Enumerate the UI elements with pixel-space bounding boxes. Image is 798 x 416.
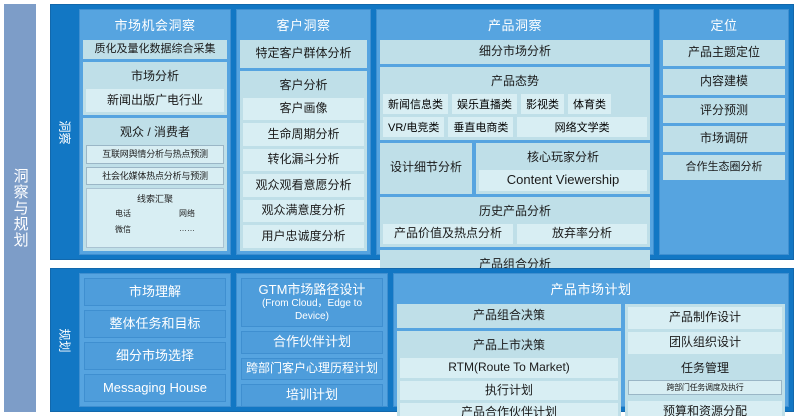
product-market-plan-right: 产品制作设计 团队组织设计 任务管理 跨部门任务调度及执行 预算和资源分配 (625, 304, 785, 416)
group-history-product-analysis-title: 历史产品分析 (383, 200, 647, 221)
section-positioning-title: 定位 (663, 13, 785, 37)
group-product-trend: 产品态势 新闻信息类 娱乐直播类 影视类 体育类 VR/电竞类 垂直电商类 网络… (380, 67, 650, 140)
tile-gtm-path-design[interactable]: GTM市场路径设计 (From Cloud，Edge to Device) (241, 278, 383, 327)
product-mid-row: 设计细节分析 核心玩家分析 Content Viewership (380, 143, 650, 194)
tile-segment-selection[interactable]: 细分市场选择 (84, 342, 226, 370)
chip-online-literature[interactable]: 网络文学类 (517, 117, 647, 137)
tile-customer-persona[interactable]: 客户画像 (243, 98, 364, 121)
tile-social-media-hotspot-analysis[interactable]: 社会化媒体热点分析与预测 (86, 167, 224, 185)
group-customer-analysis: 客户分析 客户画像 生命周期分析 转化漏斗分析 观众观看意愿分析 观众满意度分析… (240, 71, 367, 251)
chip-vr-esports[interactable]: VR/电竞类 (383, 117, 444, 137)
product-market-plan-left: 产品组合决策 产品上市决策 RTM(Route To Market) 执行计划 … (397, 304, 621, 416)
group-core-player-analysis: 核心玩家分析 Content Viewership (476, 143, 650, 194)
tile-user-loyalty-analysis[interactable]: 用户忠诚度分析 (243, 225, 364, 248)
tile-content-modeling[interactable]: 内容建模 (663, 69, 785, 95)
tile-cross-dept-task-scheduling[interactable]: 跨部门任务调度及执行 (628, 380, 782, 395)
product-trend-row-1: 新闻信息类 娱乐直播类 影视类 体育类 (383, 94, 647, 114)
section-customer-insight-title: 客户洞察 (240, 13, 367, 37)
section-product-insight[interactable]: 产品洞察 细分市场分析 产品态势 新闻信息类 娱乐直播类 影视类 体育类 VR/… (376, 9, 654, 255)
tile-product-theme-positioning[interactable]: 产品主题定位 (663, 40, 785, 66)
section-market-opportunity-title: 市场机会洞察 (83, 13, 227, 37)
tile-execution-plan[interactable]: 执行计划 (400, 381, 618, 401)
clue-channel-more: …… (155, 224, 219, 235)
tile-broadcast-industry[interactable]: 新闻出版广电行业 (86, 89, 224, 113)
tile-market-segmentation-analysis[interactable]: 细分市场分析 (380, 40, 650, 64)
band-insight-tab-label: 洞察 (56, 120, 73, 144)
tile-gtm-path-design-title: GTM市场路径设计 (259, 282, 366, 298)
tile-abandonment-rate[interactable]: 放弃率分析 (517, 224, 647, 244)
tile-team-org-design[interactable]: 团队组织设计 (628, 332, 782, 354)
chip-sports[interactable]: 体育类 (568, 94, 611, 114)
group-product-launch-decision: 产品上市决策 RTM(Route To Market) 执行计划 产品合作伙伴计… (397, 331, 621, 416)
group-customer-analysis-title: 客户分析 (243, 74, 364, 95)
section-customer-insight[interactable]: 客户洞察 特定客户群体分析 客户分析 客户画像 生命周期分析 转化漏斗分析 观众… (236, 9, 371, 255)
tile-product-value-hotspot[interactable]: 产品价值及热点分析 (383, 224, 513, 244)
section-market-opportunity[interactable]: 市场机会洞察 质化及量化数据综合采集 市场分析 新闻出版广电行业 观众 / 消费… (79, 9, 231, 255)
tile-content-viewership[interactable]: Content Viewership (479, 170, 647, 191)
tile-internet-opinion-analysis[interactable]: 互联网舆情分析与热点预测 (86, 145, 224, 163)
tile-market-research[interactable]: 市场调研 (663, 126, 785, 152)
section-plan-gtm[interactable]: GTM市场路径设计 (From Cloud，Edge to Device) 合作… (236, 273, 388, 407)
tile-gtm-path-design-sub: (From Cloud，Edge to Device) (246, 298, 378, 323)
group-history-product-analysis: 历史产品分析 产品价值及热点分析 放弃率分析 (380, 197, 650, 247)
group-product-launch-decision-title: 产品上市决策 (400, 334, 618, 355)
group-core-player-analysis-title: 核心玩家分析 (479, 146, 647, 167)
tile-production-design[interactable]: 产品制作设计 (628, 307, 782, 329)
product-market-plan-columns: 产品组合决策 产品上市决策 RTM(Route To Market) 执行计划 … (397, 304, 785, 416)
chip-news-information[interactable]: 新闻信息类 (383, 94, 448, 114)
tile-product-portfolio-decision[interactable]: 产品组合决策 (397, 304, 621, 328)
global-rail-label: 洞察与规划 (9, 168, 30, 248)
diagram-root: 洞察与规划 洞察 市场机会洞察 质化及量化数据综合采集 市场分析 新闻出版广电行… (0, 0, 798, 416)
group-clue-aggregation: 线索汇聚 电话 网络 微信 …… (86, 188, 224, 248)
global-rail: 洞察与规划 (4, 4, 36, 412)
positioning-spacer (663, 183, 785, 251)
tile-viewer-satisfaction-analysis[interactable]: 观众满意度分析 (243, 200, 364, 223)
chip-film-tv[interactable]: 影视类 (521, 94, 564, 114)
band-planning-tab: 规划 (51, 269, 79, 411)
tile-specific-customer-group[interactable]: 特定客户群体分析 (240, 40, 367, 68)
tile-viewing-intent-analysis[interactable]: 观众观看意愿分析 (243, 174, 364, 197)
group-audience-consumer: 观众 / 消费者 互联网舆情分析与热点预测 社会化媒体热点分析与预测 线索汇聚 … (83, 118, 227, 251)
tile-rating-prediction[interactable]: 评分预测 (663, 98, 785, 124)
tile-budget-resource-allocation[interactable]: 预算和资源分配 (628, 401, 782, 416)
section-product-insight-title: 产品洞察 (380, 13, 650, 37)
tile-market-understanding[interactable]: 市场理解 (84, 278, 226, 306)
tile-rtm[interactable]: RTM(Route To Market) (400, 358, 618, 378)
group-task-management-title: 任务管理 (628, 357, 782, 378)
band-planning: 规划 市场理解 整体任务和目标 细分市场选择 Messaging House G… (50, 268, 794, 412)
section-plan-market-basics[interactable]: 市场理解 整体任务和目标 细分市场选择 Messaging House (79, 273, 231, 407)
band-insight-tab: 洞察 (51, 5, 79, 259)
section-positioning[interactable]: 定位 产品主题定位 内容建模 评分预测 市场调研 合作生态圈分析 (659, 9, 789, 255)
tile-messaging-house[interactable]: Messaging House (84, 374, 226, 402)
clue-channel-web: 网络 (155, 208, 219, 219)
tile-partner-plan[interactable]: 合作伙伴计划 (241, 331, 383, 354)
tile-overall-tasks-goals[interactable]: 整体任务和目标 (84, 310, 226, 338)
product-trend-row-2: VR/电竞类 垂直电商类 网络文学类 (383, 117, 647, 137)
tile-cross-dept-customer-journey-plan[interactable]: 跨部门客户心理历程计划 (241, 358, 383, 380)
group-market-analysis: 市场分析 新闻出版广电行业 (83, 62, 227, 116)
tile-training-plan[interactable]: 培训计划 (241, 384, 383, 407)
section-product-market-plan-title: 产品市场计划 (397, 277, 785, 301)
tile-conversion-funnel-analysis[interactable]: 转化漏斗分析 (243, 149, 364, 172)
group-market-analysis-title: 市场分析 (86, 65, 224, 86)
band-insight: 洞察 市场机会洞察 质化及量化数据综合采集 市场分析 新闻出版广电行业 观众 /… (50, 4, 794, 260)
clue-channel-wechat: 微信 (91, 224, 155, 235)
chip-vertical-ecommerce[interactable]: 垂直电商类 (448, 117, 513, 137)
section-product-market-plan[interactable]: 产品市场计划 产品组合决策 产品上市决策 RTM(Route To Market… (393, 273, 789, 407)
group-clue-aggregation-title: 线索汇聚 (91, 192, 219, 205)
group-task-management: 任务管理 跨部门任务调度及执行 (628, 357, 782, 399)
chip-entertainment-live[interactable]: 娱乐直播类 (452, 94, 517, 114)
tile-lifecycle-analysis[interactable]: 生命周期分析 (243, 123, 364, 146)
history-items-row: 产品价值及热点分析 放弃率分析 (383, 224, 647, 244)
group-audience-consumer-title: 观众 / 消费者 (86, 121, 224, 142)
group-product-trend-title: 产品态势 (383, 70, 647, 91)
tile-design-detail-analysis[interactable]: 设计细节分析 (380, 143, 472, 194)
tile-data-collection[interactable]: 质化及量化数据综合采集 (83, 40, 227, 59)
clue-channel-phone: 电话 (91, 208, 155, 219)
tile-product-partner-plan[interactable]: 产品合作伙伴计划 (400, 403, 618, 416)
band-planning-tab-label: 规划 (56, 328, 73, 352)
tile-partner-ecosystem-analysis[interactable]: 合作生态圈分析 (663, 155, 785, 180)
